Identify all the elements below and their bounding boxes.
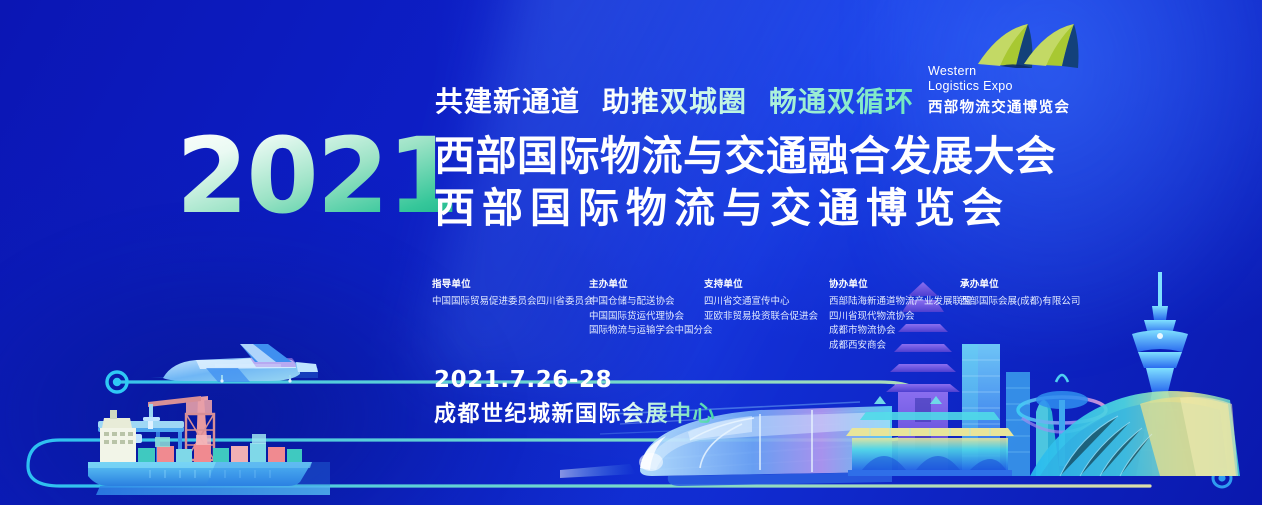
organizer-heading: 指导单位 [432, 276, 589, 290]
year-number: 2021 [176, 124, 457, 228]
observatory-swirl [1018, 375, 1106, 466]
route-end-node [1213, 469, 1231, 487]
organizer-item: 西部陆海新通道物流产业发展联盟 [829, 295, 960, 310]
expo-poster: Western Logistics Expo 西部物流交通博览会 共建新通道助推… [0, 0, 1262, 505]
double-wing-mark-icon [976, 22, 1084, 70]
skyscraper-group [962, 344, 1060, 476]
organizer-item: 西部国际会展(成都)有限公司 [960, 295, 1130, 310]
poster-tagline: 共建新通道助推双城圈畅通双循环 [435, 80, 915, 116]
organizer-heading: 协办单位 [829, 276, 960, 290]
route-start-node [107, 372, 127, 392]
logo-english-line1: Western [928, 64, 1013, 79]
logo-english-text: Western Logistics Expo [928, 64, 1013, 93]
port-crane-gantry [98, 421, 184, 462]
organizer-item: 成都西安商会 [829, 339, 960, 354]
organizer-item: 国际物流与运输学会中国分会 [589, 324, 704, 339]
organizer-item: 中国国际货运代理协会 [589, 310, 704, 325]
organizer-item: 中国国际贸易促进委员会四川省委员会 [432, 295, 589, 310]
event-venue: 成都世纪城新国际会展中心 [434, 396, 716, 428]
expo-logo: Western Logistics Expo 西部物流交通博览会 [928, 22, 1084, 114]
tagline-part-1: 共建新通道 [435, 86, 580, 117]
tagline-part-3: 畅通双循环 [769, 86, 914, 117]
light-streak-bottom-left [0, 235, 500, 505]
page-title-line1: 西部国际物流与交通融合发展大会 [434, 133, 1057, 179]
organizer-item: 四川省交通宣传中心 [704, 295, 829, 310]
organizer-heading: 承办单位 [960, 276, 1130, 290]
anshun-bridge-illustration [846, 396, 1014, 476]
cargo-ship-illustration [88, 410, 330, 495]
organizer-item: 成都市物流协会 [829, 324, 960, 339]
organizer-item: 亚欧非贸易投资联合促进会 [704, 310, 829, 325]
organizer-column-guidance: 指导单位 中国国际贸易促进委员会四川省委员会 [432, 276, 589, 353]
organizer-column-host: 主办单位 中国仓储与配送协会 中国国际货运代理协会 国际物流与运输学会中国分会 [589, 276, 704, 353]
tagline-part-2: 助推双城圈 [602, 86, 747, 117]
shipping-containers [138, 434, 302, 462]
organizer-list: 指导单位 中国国际贸易促进委员会四川省委员会 主办单位 中国仓储与配送协会 中国… [432, 276, 1130, 353]
logo-english-line2: Logistics Expo [928, 79, 1013, 94]
organizer-column-undertaker: 承办单位 西部国际会展(成都)有限公司 [960, 276, 1130, 353]
organizer-item: 中国仓储与配送协会 [589, 295, 704, 310]
page-title-line2: 西部国际物流与交通博览会 [434, 185, 1010, 231]
organizer-column-support: 支持单位 四川省交通宣传中心 亚欧非贸易投资联合促进会 [704, 276, 829, 353]
event-date: 2021.7.26-28 [434, 367, 612, 393]
organizer-item: 四川省现代物流协会 [829, 310, 960, 325]
tv-tower-illustration [1132, 272, 1190, 476]
organizer-heading: 支持单位 [704, 276, 829, 290]
airplane-illustration [150, 344, 318, 383]
logo-chinese-text: 西部物流交通博览会 [928, 96, 1070, 117]
port-crane-large [143, 396, 214, 460]
organizer-heading: 主办单位 [589, 276, 704, 290]
exhibition-center-roof [1030, 391, 1240, 476]
organizer-column-coorganizer: 协办单位 西部陆海新通道物流产业发展联盟 四川省现代物流协会 成都市物流协会 成… [829, 276, 960, 353]
